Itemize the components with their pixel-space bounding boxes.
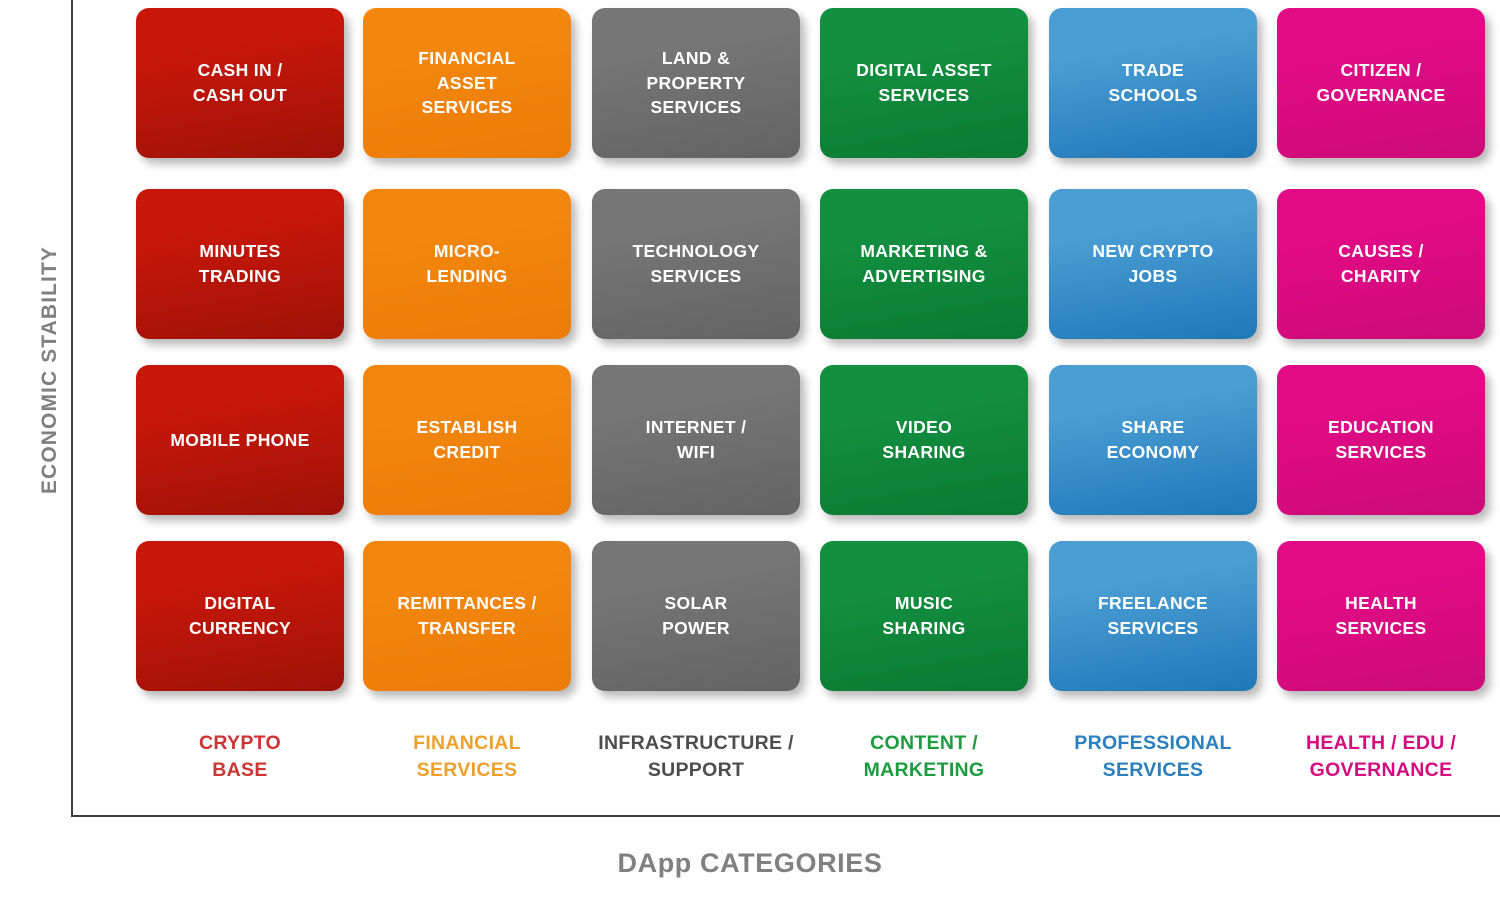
tile-crypto-base-r3[interactable]: MOBILE PHONE bbox=[136, 365, 344, 515]
tile-label: NEW CRYPTO JOBS bbox=[1092, 239, 1213, 289]
tile-financial-services-r4[interactable]: REMITTANCES / TRANSFER bbox=[363, 541, 571, 691]
tile-label: EDUCATION SERVICES bbox=[1328, 415, 1434, 465]
tile-label: SOLAR POWER bbox=[662, 591, 730, 641]
y-axis-line bbox=[71, 0, 73, 817]
tile-label: REMITTANCES / TRANSFER bbox=[397, 591, 536, 641]
tile-label: HEALTH SERVICES bbox=[1336, 591, 1427, 641]
tile-crypto-base-r4[interactable]: DIGITAL CURRENCY bbox=[136, 541, 344, 691]
tile-label: MINUTES TRADING bbox=[199, 239, 281, 289]
tile-label: MICRO- LENDING bbox=[426, 239, 507, 289]
tile-content-marketing-r4[interactable]: MUSIC SHARING bbox=[820, 541, 1028, 691]
x-axis-line bbox=[71, 815, 1500, 817]
tile-label: VIDEO SHARING bbox=[882, 415, 965, 465]
tile-financial-services-r1[interactable]: FINANCIAL ASSET SERVICES bbox=[363, 8, 571, 158]
column-heading-health-edu-governance: HEALTH / EDU / GOVERNANCE bbox=[1251, 730, 1500, 784]
tile-professional-services-r3[interactable]: SHARE ECONOMY bbox=[1049, 365, 1257, 515]
tile-label: MUSIC SHARING bbox=[882, 591, 965, 641]
tile-professional-services-r4[interactable]: FREELANCE SERVICES bbox=[1049, 541, 1257, 691]
tile-label: SHARE ECONOMY bbox=[1107, 415, 1200, 465]
tile-crypto-base-r1[interactable]: CASH IN / CASH OUT bbox=[136, 8, 344, 158]
tile-crypto-base-r2[interactable]: MINUTES TRADING bbox=[136, 189, 344, 339]
y-axis-label: ECONOMIC STABILITY bbox=[38, 130, 62, 610]
tile-label: MARKETING & ADVERTISING bbox=[860, 239, 987, 289]
tile-infrastructure-support-r3[interactable]: INTERNET / WIFI bbox=[592, 365, 800, 515]
tile-infrastructure-support-r1[interactable]: LAND & PROPERTY SERVICES bbox=[592, 8, 800, 158]
tile-health-edu-governance-r1[interactable]: CITIZEN / GOVERNANCE bbox=[1277, 8, 1485, 158]
tile-label: DIGITAL CURRENCY bbox=[189, 591, 291, 641]
column-heading-content-marketing: CONTENT / MARKETING bbox=[794, 730, 1054, 784]
tile-label: ESTABLISH CREDIT bbox=[416, 415, 517, 465]
tile-financial-services-r2[interactable]: MICRO- LENDING bbox=[363, 189, 571, 339]
tile-health-edu-governance-r3[interactable]: EDUCATION SERVICES bbox=[1277, 365, 1485, 515]
tile-content-marketing-r2[interactable]: MARKETING & ADVERTISING bbox=[820, 189, 1028, 339]
tile-label: CITIZEN / GOVERNANCE bbox=[1317, 58, 1446, 108]
tile-label: FREELANCE SERVICES bbox=[1098, 591, 1208, 641]
column-heading-professional-services: PROFESSIONAL SERVICES bbox=[1023, 730, 1283, 784]
tile-grid: CASH IN / CASH OUTFINANCIAL ASSET SERVIC… bbox=[136, 8, 1485, 698]
tile-label: CASH IN / CASH OUT bbox=[193, 58, 287, 108]
tile-health-edu-governance-r2[interactable]: CAUSES / CHARITY bbox=[1277, 189, 1485, 339]
tile-infrastructure-support-r4[interactable]: SOLAR POWER bbox=[592, 541, 800, 691]
tile-professional-services-r2[interactable]: NEW CRYPTO JOBS bbox=[1049, 189, 1257, 339]
tile-professional-services-r1[interactable]: TRADE SCHOOLS bbox=[1049, 8, 1257, 158]
tile-label: TECHNOLOGY SERVICES bbox=[633, 239, 760, 289]
tile-label: INTERNET / WIFI bbox=[646, 415, 747, 465]
dapp-category-matrix: ECONOMIC STABILITY DApp CATEGORIES CASH … bbox=[0, 0, 1500, 903]
tile-content-marketing-r3[interactable]: VIDEO SHARING bbox=[820, 365, 1028, 515]
tile-health-edu-governance-r4[interactable]: HEALTH SERVICES bbox=[1277, 541, 1485, 691]
tile-infrastructure-support-r2[interactable]: TECHNOLOGY SERVICES bbox=[592, 189, 800, 339]
tile-label: DIGITAL ASSET SERVICES bbox=[856, 58, 991, 108]
column-heading-infrastructure-support: INFRASTRUCTURE / SUPPORT bbox=[566, 730, 826, 784]
tile-label: FINANCIAL ASSET SERVICES bbox=[418, 46, 515, 121]
tile-label: MOBILE PHONE bbox=[170, 428, 309, 453]
tile-financial-services-r3[interactable]: ESTABLISH CREDIT bbox=[363, 365, 571, 515]
tile-label: TRADE SCHOOLS bbox=[1109, 58, 1198, 108]
column-heading-crypto-base: CRYPTO BASE bbox=[110, 730, 370, 784]
tile-label: CAUSES / CHARITY bbox=[1338, 239, 1423, 289]
column-heading-financial-services: FINANCIAL SERVICES bbox=[337, 730, 597, 784]
x-axis-label: DApp CATEGORIES bbox=[0, 848, 1500, 879]
tile-label: LAND & PROPERTY SERVICES bbox=[646, 46, 745, 121]
tile-content-marketing-r1[interactable]: DIGITAL ASSET SERVICES bbox=[820, 8, 1028, 158]
